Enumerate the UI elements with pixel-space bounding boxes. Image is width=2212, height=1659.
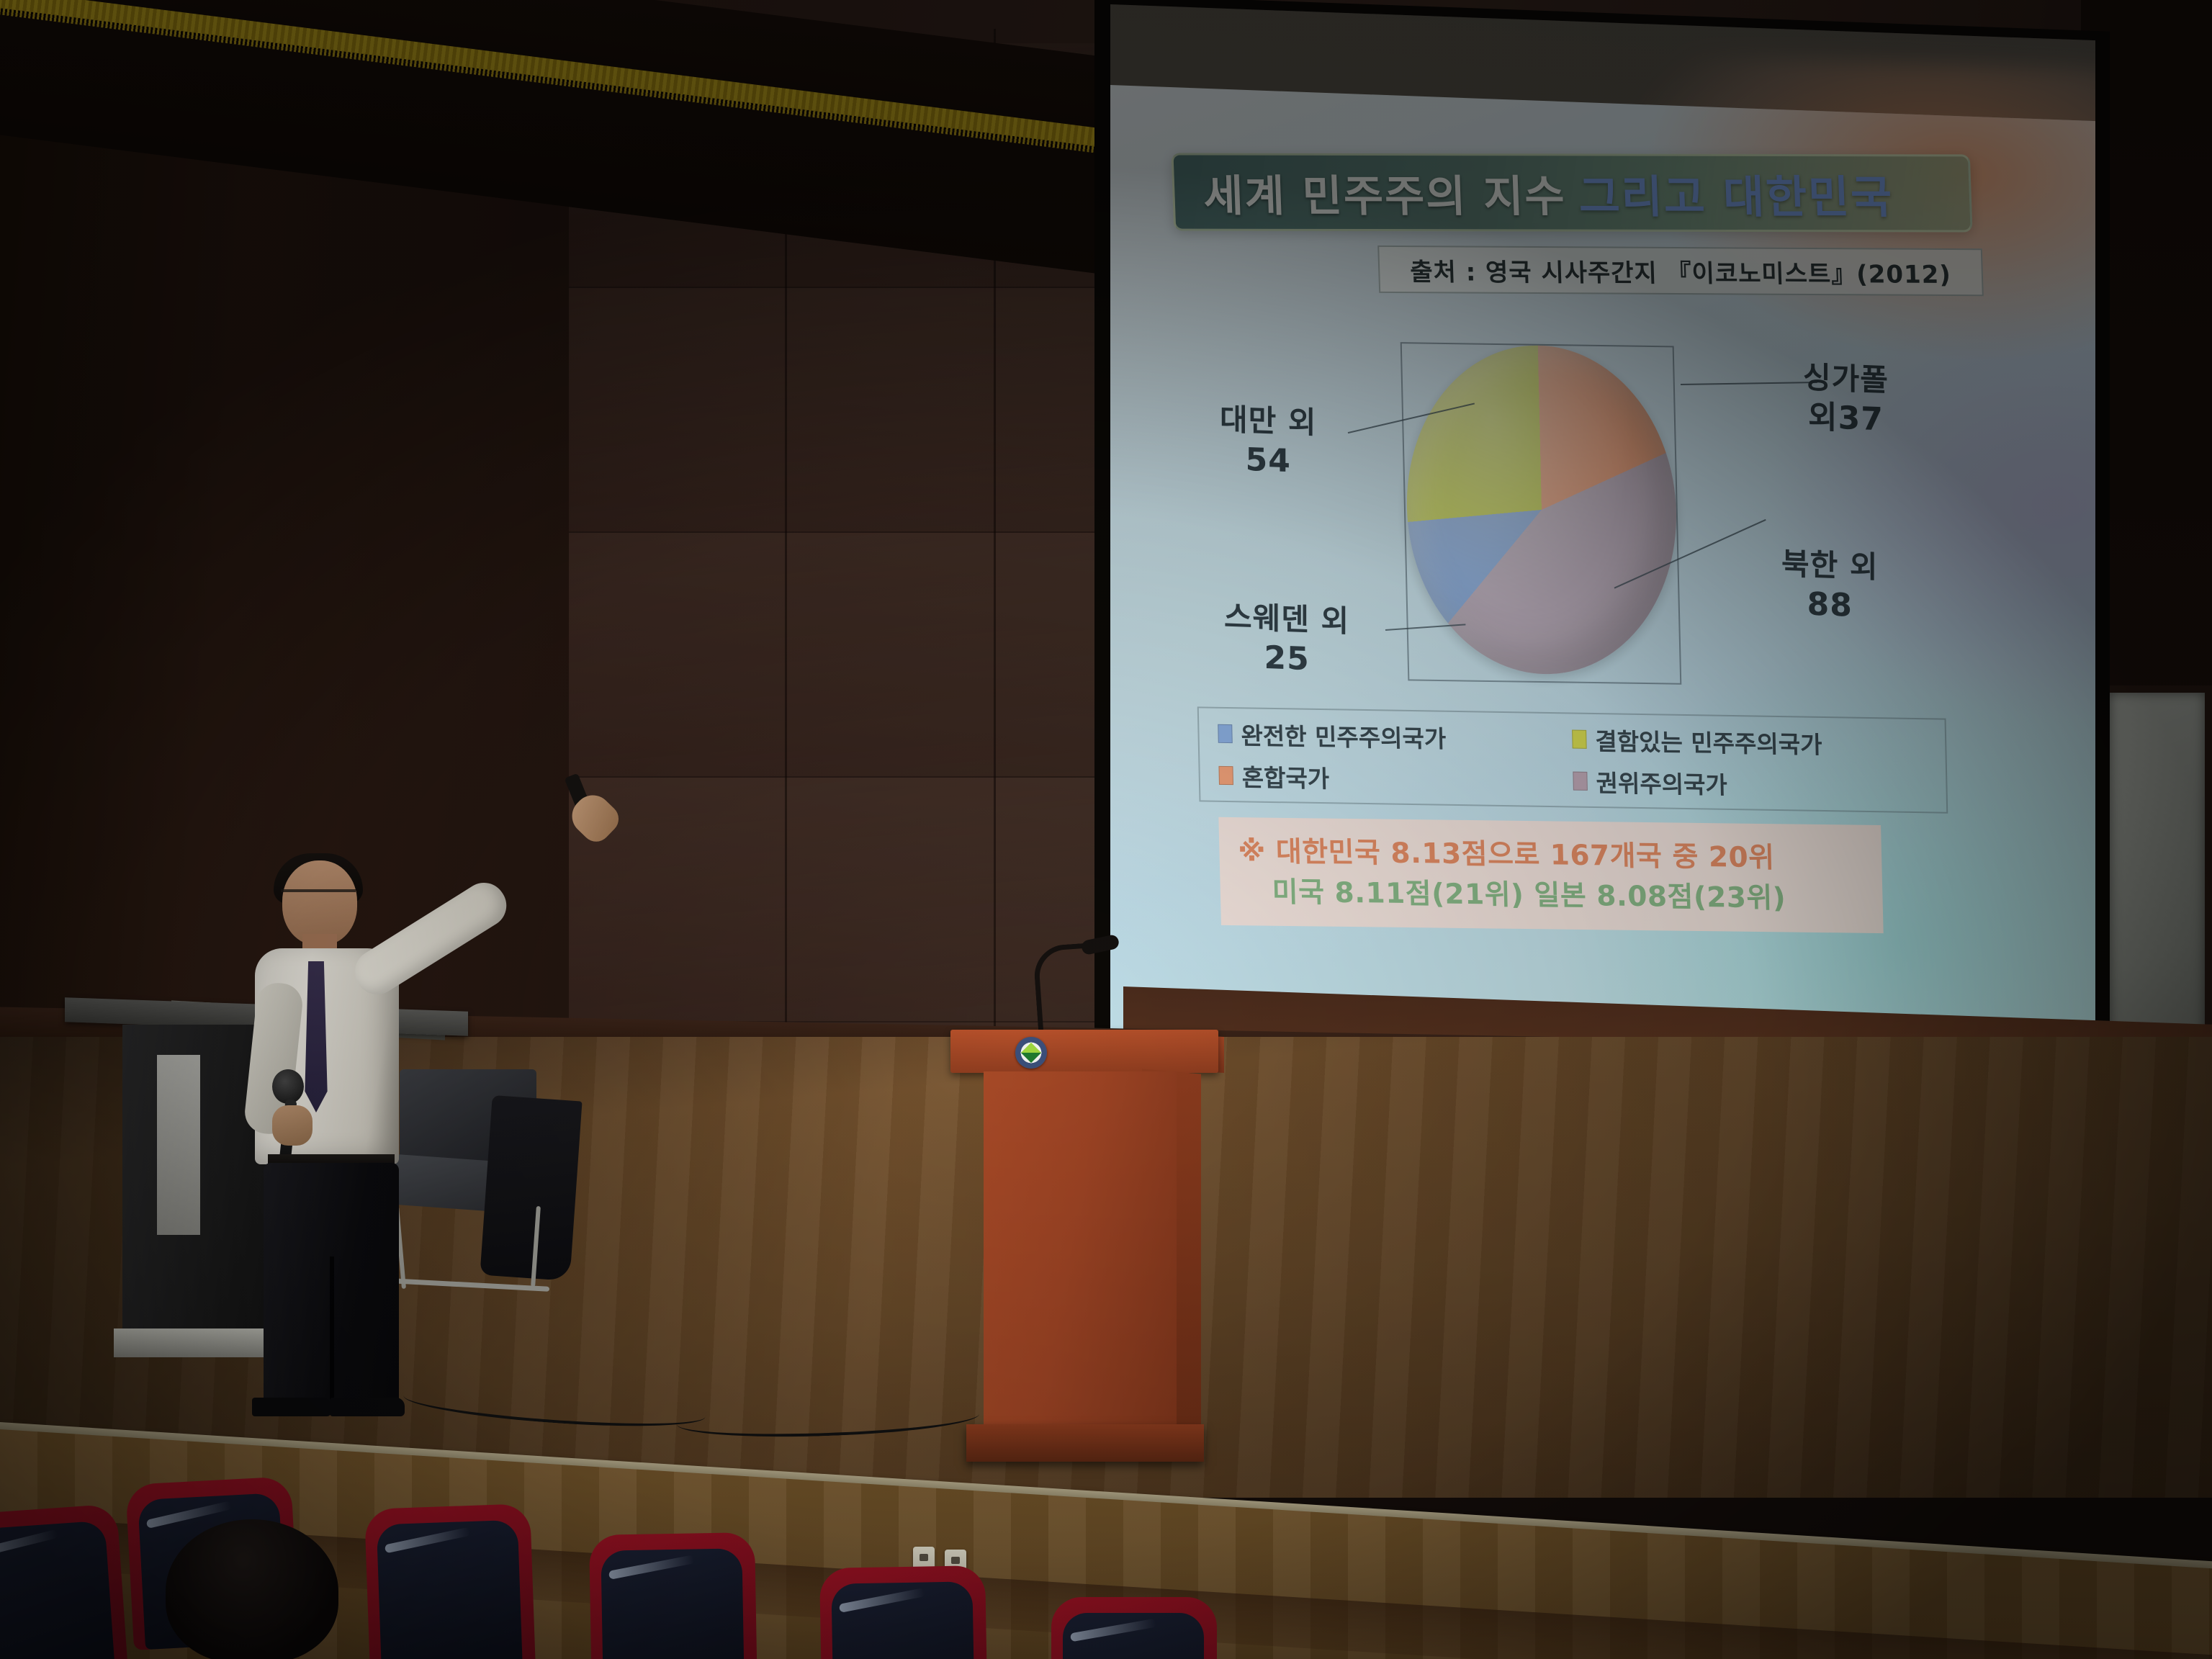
legend-item-full-democracy: 완전한 민주주의국가	[1218, 716, 1573, 757]
glasses-icon	[281, 889, 356, 901]
legend-label: 결함있는 민주주의국가	[1595, 722, 1822, 760]
legend-swatch-icon	[1572, 730, 1587, 749]
pie-label-sweden: 스웨덴 외 25	[1224, 598, 1349, 681]
audience-seat	[589, 1532, 757, 1659]
presenter-raised-arm	[347, 875, 515, 1003]
slide-title-bar: 세계 민주주의 지수 그리고 대한민국	[1171, 153, 1972, 232]
legend-swatch-icon	[1218, 766, 1233, 785]
lectern-top	[950, 1030, 1218, 1073]
audience-member-head	[166, 1519, 338, 1659]
wooden-lectern	[950, 1030, 1218, 1469]
lectern-base	[966, 1424, 1204, 1462]
presenter-left-hand	[272, 1105, 313, 1146]
legend-item-hybrid: 혼합국가	[1218, 758, 1573, 799]
wall-whiteboard	[2103, 685, 2212, 1067]
audience-seat	[0, 1503, 128, 1659]
microphone-icon	[272, 1069, 304, 1104]
wall-panel	[562, 288, 1130, 533]
auditorium-presentation-scene: 세계 민주주의 지수 그리고 대한민국 출처 : 영국 시사주간지 『이코노미스…	[0, 0, 2212, 1659]
institution-emblem-icon	[1015, 1037, 1047, 1069]
lectern-body	[984, 1071, 1177, 1439]
pie-label-singapore: 싱가폴 외37	[1803, 358, 1889, 440]
legend-label: 완전한 민주주의국가	[1241, 716, 1447, 755]
audience-seat	[819, 1565, 988, 1659]
legend-label: 혼합국가	[1241, 758, 1329, 794]
slide-source-box: 출처 : 영국 시사주간지 『이코노미스트』(2012)	[1377, 246, 1984, 296]
audience-seat	[1051, 1597, 1217, 1659]
seat-cushion	[377, 1520, 523, 1659]
projection-screen[interactable]: 세계 민주주의 지수 그리고 대한민국 출처 : 영국 시사주간지 『이코노미스…	[1110, 4, 2095, 1095]
slide-title-main: 세계 민주주의 지수	[1202, 161, 1567, 224]
trouser-seam	[330, 1256, 334, 1408]
presenter-head	[282, 860, 357, 945]
presentation-slide: 세계 민주주의 지수 그리고 대한민국 출처 : 영국 시사주간지 『이코노미스…	[1110, 85, 2095, 1086]
pie-label-taiwan: 대만 외 54	[1220, 400, 1317, 483]
legend-label: 권위주의국가	[1596, 764, 1727, 801]
wall-panel	[562, 533, 1130, 778]
legend-swatch-icon	[1573, 772, 1588, 791]
leader-line-singapore	[1681, 382, 1817, 385]
legend-item-flawed-democracy: 결함있는 민주주의국가	[1572, 722, 1927, 763]
podium-front-panel	[157, 1055, 200, 1235]
audience-seat	[364, 1503, 536, 1659]
pie-chart	[1398, 336, 1686, 686]
pie-label-nkorea: 북한 외 88	[1781, 544, 1879, 627]
gooseneck-mic-arm	[1033, 943, 1096, 1033]
presenter-shoe	[252, 1398, 331, 1416]
legend-swatch-icon	[1218, 724, 1233, 743]
legend-item-authoritarian: 권위주의국가	[1573, 764, 1928, 804]
chart-legend: 완전한 민주주의국가 결함있는 민주주의국가 혼합국가 권위주의국가	[1197, 706, 1948, 813]
note-line-us-japan: 미국 8.11점(21위) 일본 8.08점(23위)	[1238, 869, 1864, 917]
slide-title-accent: 그리고 대한민국	[1578, 160, 1894, 225]
presenter-shoe	[330, 1398, 405, 1416]
presenter	[230, 853, 533, 1422]
slide-note-box: ※ 대한민국 8.13점으로 167개국 중 20위 미국 8.11점(21위)…	[1218, 817, 1883, 933]
